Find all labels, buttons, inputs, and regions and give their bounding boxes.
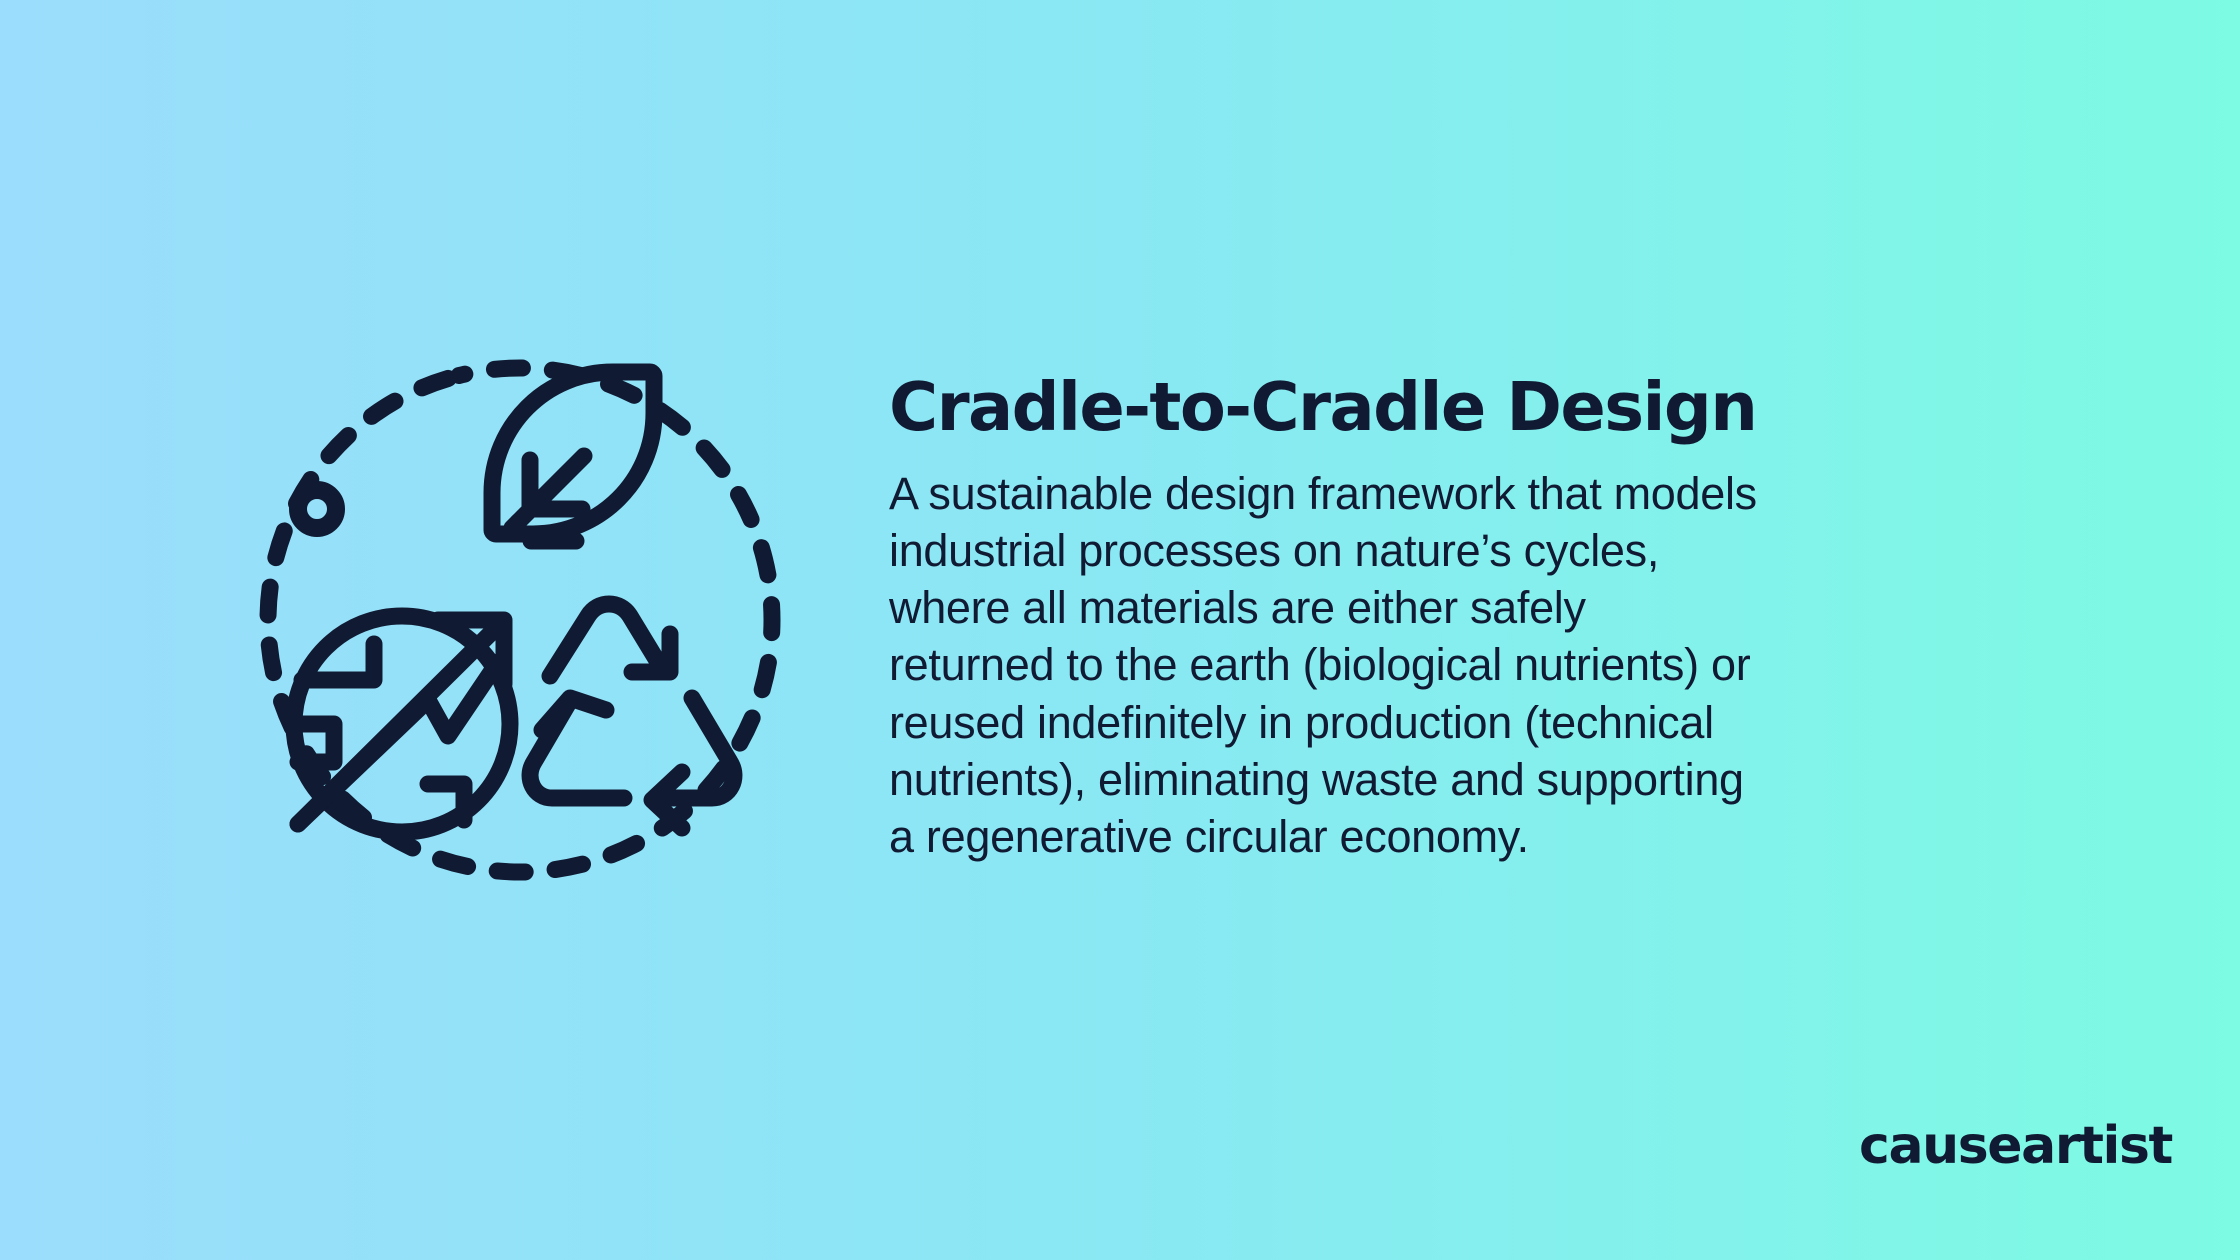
description-line: nutrients), eliminating waste and suppor…	[889, 751, 2059, 808]
infographic-card: Cradle-to-Cradle Design A sustainable de…	[0, 0, 2240, 1260]
description-line: A sustainable design framework that mode…	[889, 465, 2059, 522]
description-line: returned to the earth (biological nutrie…	[889, 636, 2059, 693]
recycle-icon	[530, 604, 734, 828]
brand-logo: causeartist	[1859, 1120, 2172, 1172]
page-title: Cradle-to-Cradle Design	[889, 372, 2089, 443]
circle-marker-icon	[298, 490, 336, 528]
circular-economy-illustration	[232, 332, 808, 908]
description-line: industrial processes on nature’s cycles,	[889, 522, 2059, 579]
description-line: where all materials are either safely	[889, 579, 2059, 636]
globe-growth-arrow-icon	[294, 616, 510, 832]
text-block: Cradle-to-Cradle Design A sustainable de…	[889, 372, 2089, 865]
description-line: a regenerative circular economy.	[889, 808, 2059, 865]
description-line: reused indefinitely in production (techn…	[889, 694, 2059, 751]
description-paragraph: A sustainable design framework that mode…	[889, 465, 2059, 865]
